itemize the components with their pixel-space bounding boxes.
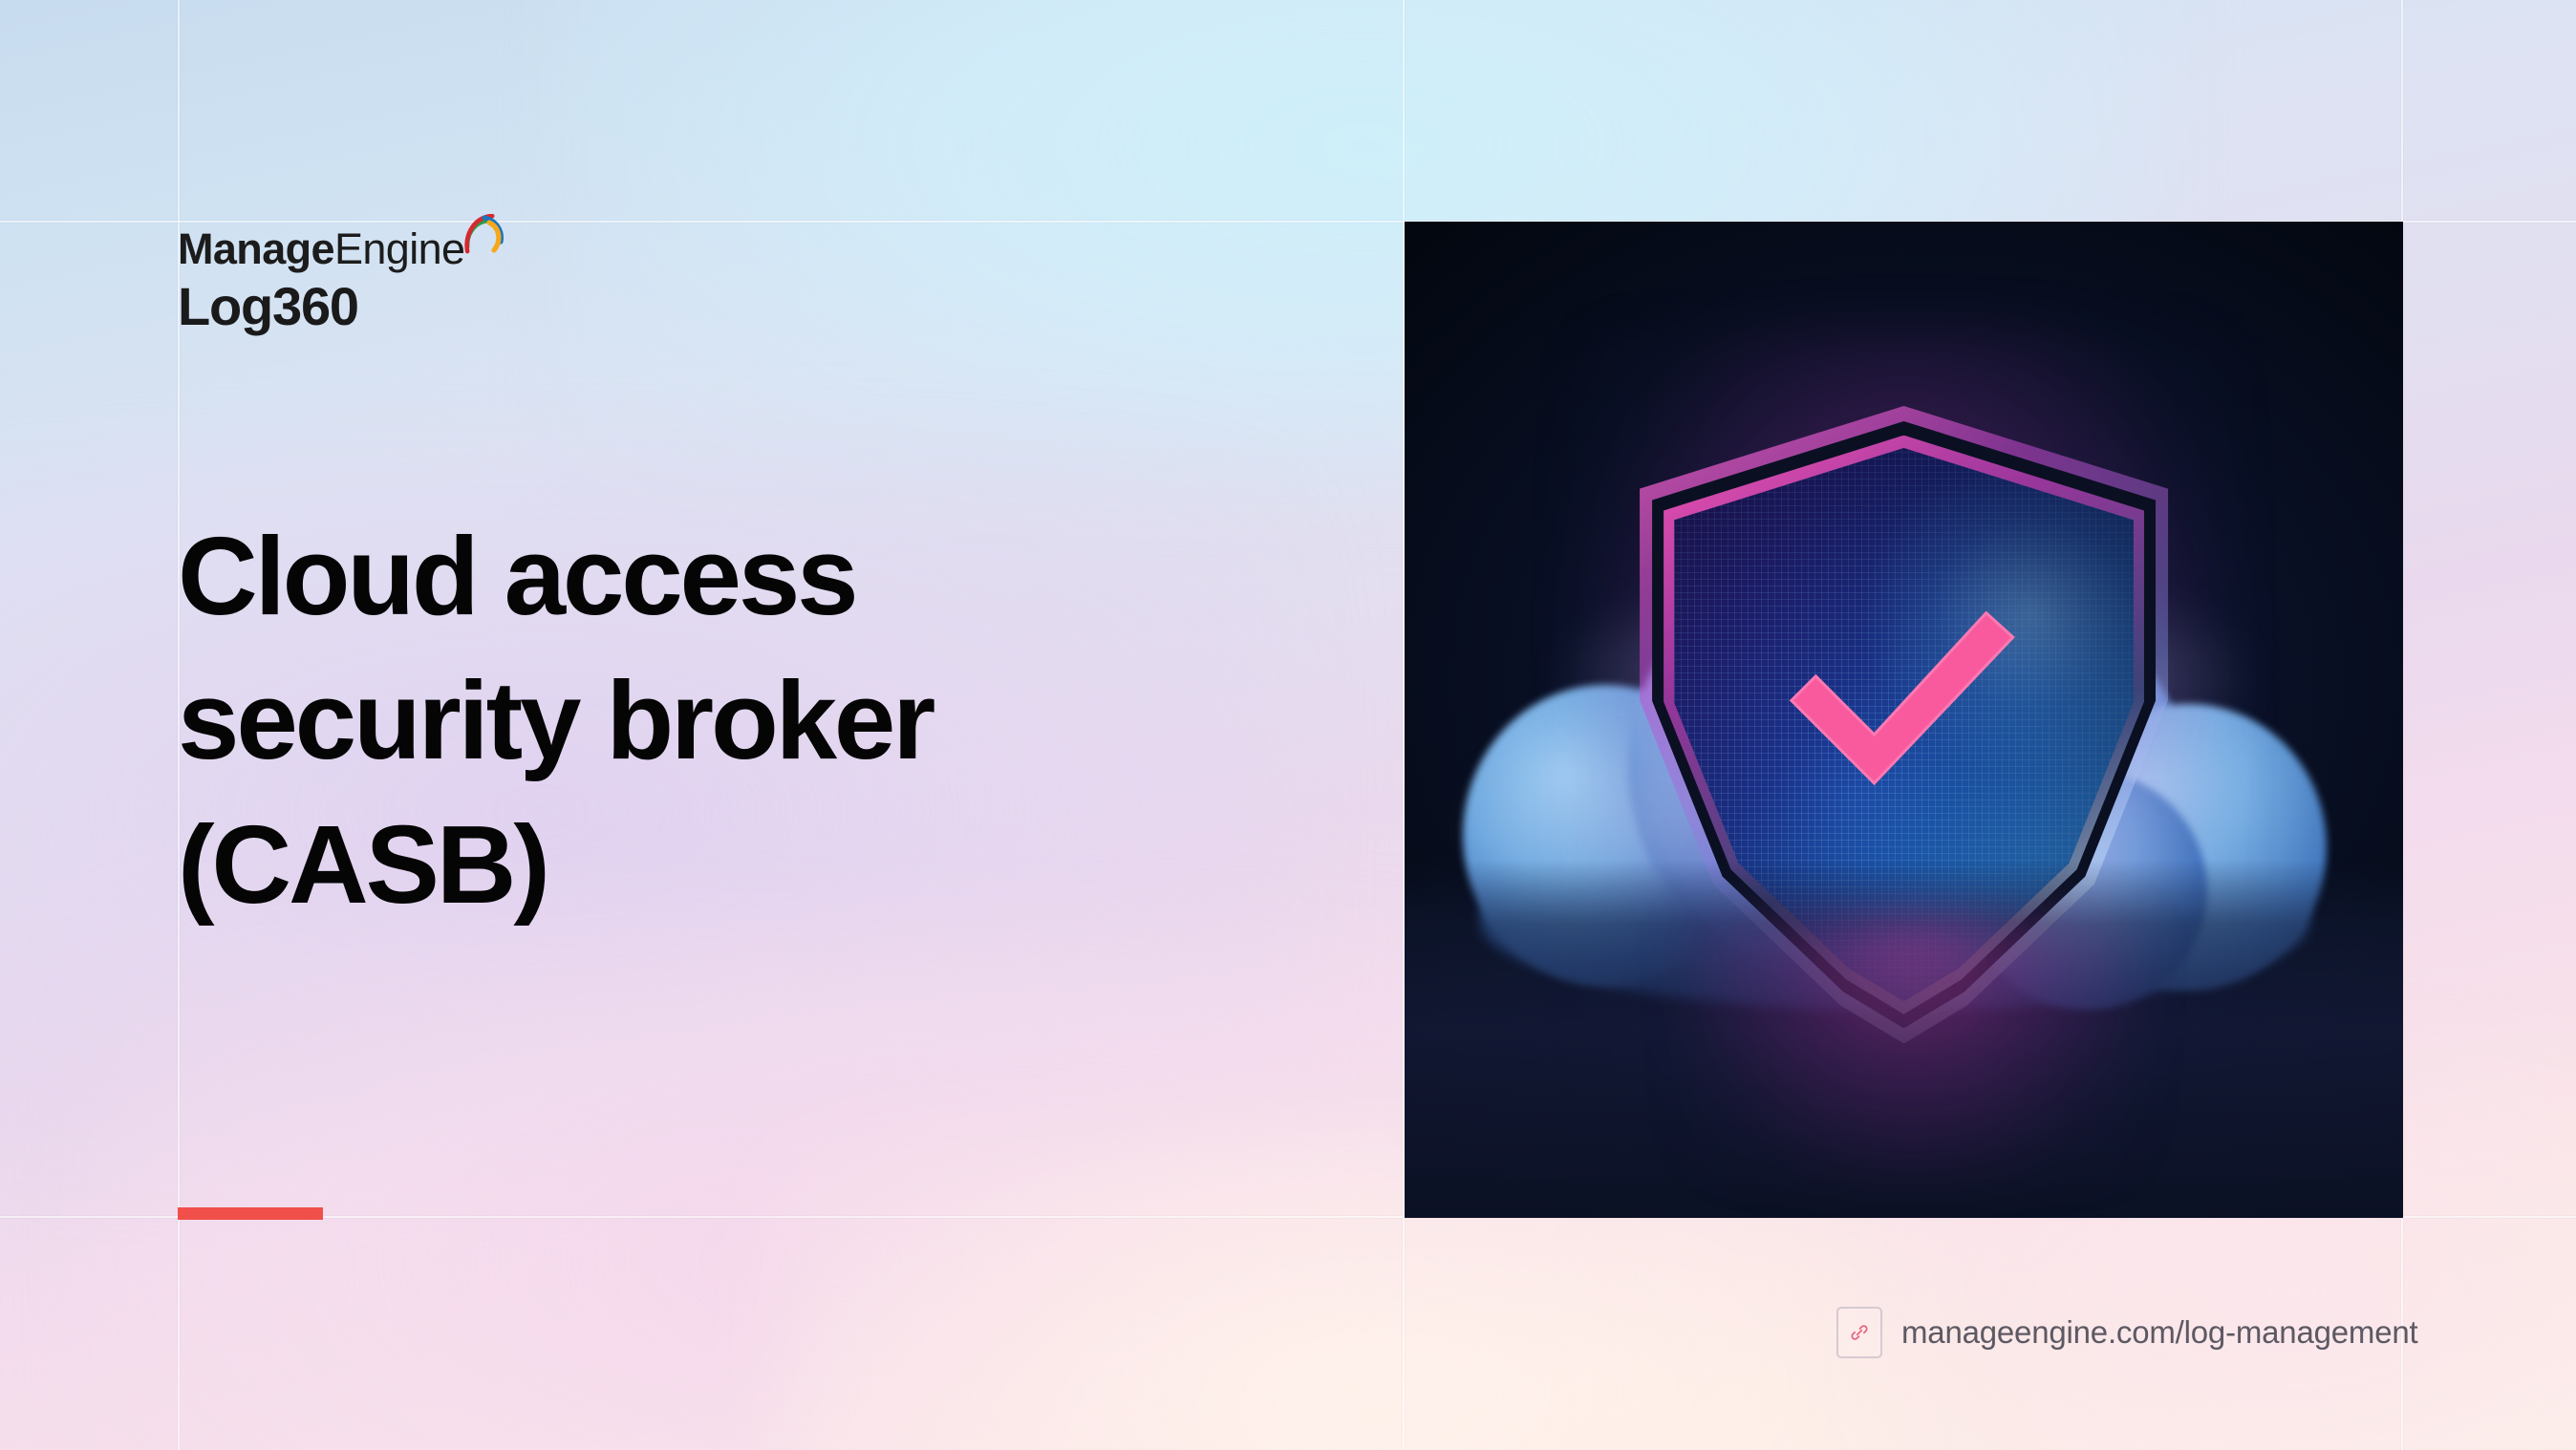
- headline-line-3: (CASB): [178, 793, 1305, 937]
- footer-url-link[interactable]: manageengine.com/log-management: [1836, 1307, 2417, 1358]
- checkmark-icon: [1777, 583, 2021, 800]
- brand-logo: ManageEngine Log360: [178, 227, 847, 333]
- hero-reflection: [1685, 919, 2144, 1178]
- slide-canvas: ManageEngine Log360 Cloud access securit…: [0, 0, 2576, 1450]
- wordmark-engine: Engine: [334, 224, 465, 273]
- page-title: Cloud access security broker (CASB): [178, 504, 1305, 936]
- footer-url-text: manageengine.com/log-management: [1901, 1314, 2417, 1351]
- accent-bar: [178, 1207, 323, 1220]
- product-name: Log360: [178, 280, 847, 333]
- manageengine-swoosh-icon: [458, 214, 504, 258]
- wordmark-manage: Manage: [178, 224, 334, 273]
- headline-line-1: Cloud access: [178, 504, 1305, 649]
- link-icon: [1836, 1307, 1882, 1358]
- hero-image: [1405, 222, 2403, 1218]
- manageengine-wordmark: ManageEngine: [178, 227, 847, 270]
- headline-line-2: security broker: [178, 649, 1305, 793]
